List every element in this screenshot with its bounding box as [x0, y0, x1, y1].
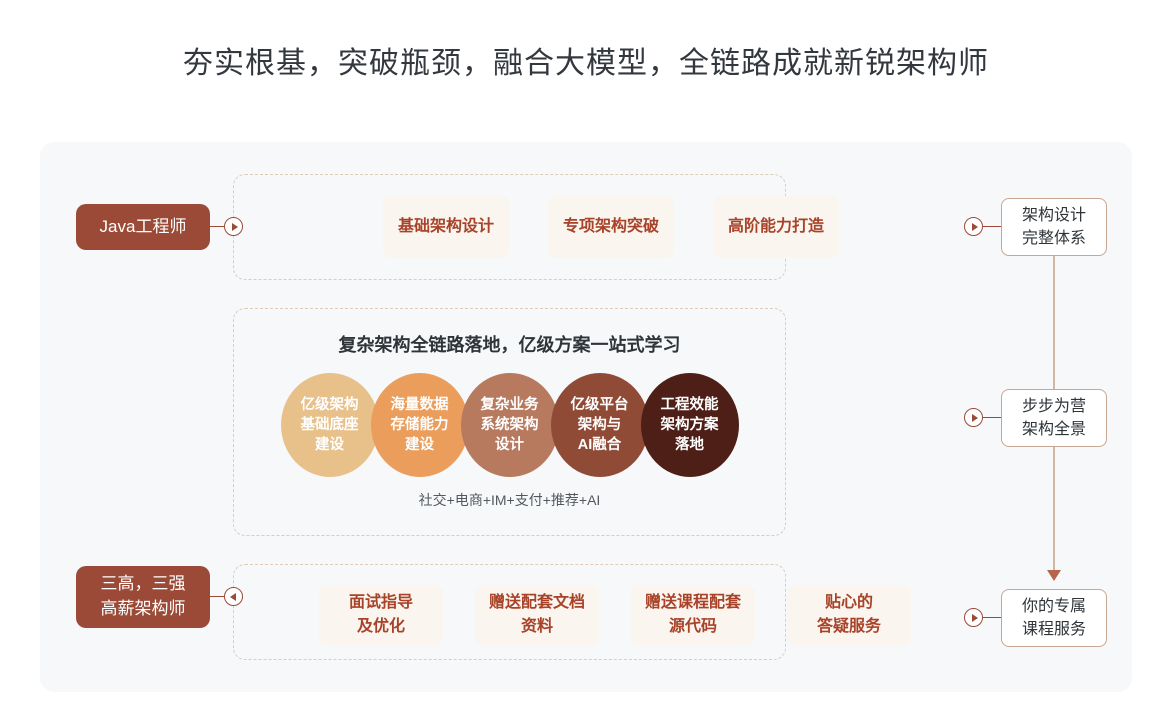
card-line: 高阶能力打造: [728, 215, 824, 239]
bubble-line: 海量数据: [391, 395, 449, 415]
group-box-foundation: [233, 174, 786, 280]
skill-card[interactable]: 专项架构突破: [548, 196, 674, 258]
service-card[interactable]: 赠送配套文档 资料: [475, 585, 599, 645]
bubble-item[interactable]: 复杂业务 系统架构 设计: [461, 373, 559, 477]
arrow-right-icon: [964, 217, 983, 236]
card-line: 资料: [521, 615, 553, 639]
card-line: 赠送配套文档: [489, 591, 585, 615]
stage-label-line: 三高，三强: [101, 572, 186, 597]
arrow-right-icon: [964, 408, 983, 427]
outcome-box[interactable]: 步步为营 架构全景: [1001, 389, 1107, 447]
connector-stub: [981, 226, 1001, 227]
arrow-left-icon: [224, 587, 243, 606]
card-line: 答疑服务: [817, 615, 881, 639]
bubble-line: 架构方案: [661, 415, 719, 435]
outcome-line: 步步为营: [1022, 395, 1086, 418]
connector-stub: [981, 417, 1001, 418]
card-line: 贴心的: [825, 591, 873, 615]
flow-line: [1053, 447, 1055, 573]
bubble-line: AI融合: [578, 435, 622, 455]
skill-card[interactable]: 高阶能力打造: [713, 196, 839, 258]
stage-label-line: 高薪架构师: [101, 597, 186, 622]
outcome-line: 架构全景: [1022, 418, 1086, 441]
bubble-item[interactable]: 亿级架构 基础底座 建设: [281, 373, 379, 477]
bubble-line: 系统架构: [481, 415, 539, 435]
bubble-line: 架构与: [578, 415, 622, 435]
arrow-right-icon: [224, 217, 243, 236]
card-line: 专项架构突破: [563, 215, 659, 239]
bubble-line: 亿级平台: [571, 395, 629, 415]
bubble-line: 建设: [315, 435, 344, 455]
bubble-line: 落地: [675, 435, 704, 455]
card-line: 及优化: [357, 615, 405, 639]
bubble-line: 基础底座: [301, 415, 359, 435]
outcome-line: 完整体系: [1022, 227, 1086, 250]
card-line: 源代码: [669, 615, 717, 639]
bubble-line: 设计: [495, 435, 524, 455]
stage-pill-high-salary-architect: 三高，三强 高薪架构师: [76, 566, 210, 628]
bubble-row: 亿级架构 基础底座 建设 海量数据 存储能力 建设 复杂业务 系统架构 设计 亿…: [233, 370, 786, 480]
outcome-box[interactable]: 架构设计 完整体系: [1001, 198, 1107, 256]
skill-card[interactable]: 基础架构设计: [383, 196, 509, 258]
bubble-item[interactable]: 海量数据 存储能力 建设: [371, 373, 469, 477]
outcome-line: 你的专属: [1022, 595, 1086, 618]
connector-stub: [981, 617, 1001, 618]
outcome-line: 课程服务: [1022, 618, 1086, 641]
roadmap-panel: Java工程师 三高，三强 高薪架构师 基础架构设计 专项架构突破 高阶能力打造…: [40, 142, 1132, 692]
middle-subtitle: 社交+电商+IM+支付+推荐+AI: [233, 490, 786, 510]
arrow-right-icon: [964, 608, 983, 627]
outcome-line: 架构设计: [1022, 204, 1086, 227]
flow-arrow-icon: [1047, 570, 1061, 581]
middle-heading: 复杂架构全链路落地，亿级方案一站式学习: [233, 331, 786, 357]
card-line: 赠送课程配套: [645, 591, 741, 615]
bubble-item[interactable]: 亿级平台 架构与 AI融合: [551, 373, 649, 477]
stage-pill-java-engineer: Java工程师: [76, 204, 210, 250]
stage-label-line: Java工程师: [100, 215, 187, 240]
bubble-line: 亿级架构: [301, 395, 359, 415]
card-line: 面试指导: [349, 591, 413, 615]
bubble-line: 复杂业务: [481, 395, 539, 415]
outcome-box[interactable]: 你的专属 课程服务: [1001, 589, 1107, 647]
service-card[interactable]: 赠送课程配套 源代码: [631, 585, 755, 645]
card-line: 基础架构设计: [398, 215, 494, 239]
bubble-line: 存储能力: [391, 415, 449, 435]
bubble-item[interactable]: 工程效能 架构方案 落地: [641, 373, 739, 477]
flow-line: [1053, 256, 1055, 389]
service-card[interactable]: 贴心的 答疑服务: [787, 585, 911, 645]
bubble-line: 建设: [405, 435, 434, 455]
bubble-line: 工程效能: [661, 395, 719, 415]
service-card[interactable]: 面试指导 及优化: [319, 585, 443, 645]
page-title: 夯实根基，突破瓶颈，融合大模型，全链路成就新锐架构师: [0, 38, 1172, 82]
